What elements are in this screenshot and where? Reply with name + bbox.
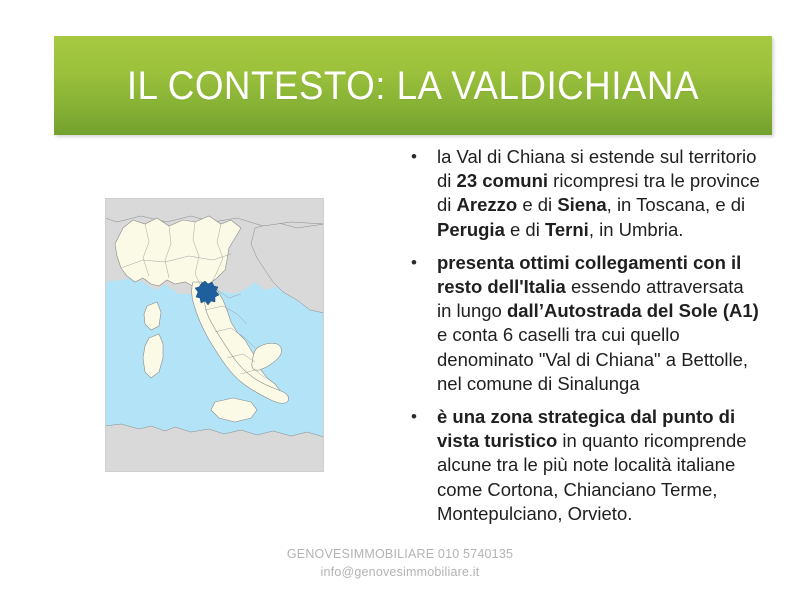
slide-title-banner: IL CONTESTO: LA VALDICHIANA: [54, 36, 772, 135]
footer-contact: GENOVESIMMOBILIARE 010 5740135 info@geno…: [0, 545, 800, 581]
list-item: • la Val di Chiana si estende sul territ…: [405, 145, 760, 242]
list-item: • presenta ottimi collegamenti con il re…: [405, 251, 760, 396]
bullet-text: presenta ottimi collegamenti con il rest…: [437, 251, 760, 396]
footer-company-phone: GENOVESIMMOBILIARE 010 5740135: [0, 545, 800, 563]
bullet-text: è una zona strategica dal punto di vista…: [437, 405, 760, 526]
bullet-marker-icon: •: [405, 145, 437, 169]
list-item: • è una zona strategica dal punto di vis…: [405, 405, 760, 526]
bullet-marker-icon: •: [405, 405, 437, 429]
map-graphic: [105, 198, 324, 472]
footer-email[interactable]: info@genovesimmobiliare.it: [0, 563, 800, 581]
page-title: IL CONTESTO: LA VALDICHIANA: [127, 66, 699, 106]
content-bullet-list: • la Val di Chiana si estende sul territ…: [405, 145, 760, 526]
italy-locator-map: [105, 198, 324, 472]
bullet-text: la Val di Chiana si estende sul territor…: [437, 145, 760, 242]
bullet-marker-icon: •: [405, 251, 437, 275]
